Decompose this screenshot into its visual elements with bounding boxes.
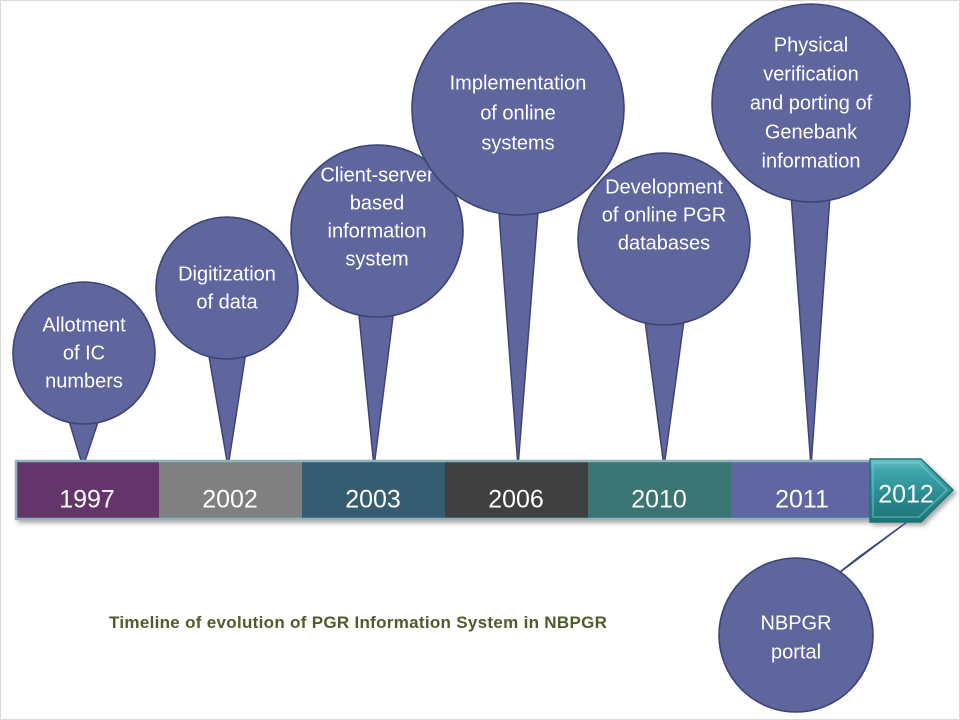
timeline-segment-2011-year: 2011 bbox=[775, 486, 829, 514]
callout-2011-line-3: and porting of bbox=[750, 92, 873, 114]
timeline-segment-2011[interactable]: 2011 bbox=[731, 461, 874, 519]
callout-tail-2006 bbox=[497, 187, 540, 467]
callout-1997[interactable]: Allotment of IC numbers bbox=[13, 282, 155, 424]
timeline-segment-1997[interactable]: 1997 bbox=[16, 461, 159, 519]
callout-2006[interactable]: Implementation of online systems bbox=[412, 3, 624, 215]
callout-2003-line-2: based bbox=[350, 192, 405, 214]
timeline-segment-2002-year: 2002 bbox=[202, 486, 258, 514]
callout-2012[interactable]: NBPGR portal bbox=[719, 558, 873, 712]
callout-2003-line-1: Client-server bbox=[320, 164, 434, 186]
callout-tail-2010 bbox=[644, 313, 685, 467]
timeline-segment-2003[interactable]: 2003 bbox=[302, 461, 445, 519]
timeline-segment-2006-year: 2006 bbox=[488, 486, 544, 514]
callout-2006-line-1: Implementation bbox=[450, 72, 587, 94]
callout-2002-line-2: of data bbox=[196, 291, 258, 313]
timeline-segment-1997-year: 1997 bbox=[59, 486, 115, 514]
callout-1997-line-2: of IC bbox=[63, 342, 105, 364]
timeline-segment-2003-year: 2003 bbox=[345, 486, 401, 514]
callout-2003-line-3: information bbox=[328, 220, 427, 242]
timeline-segment-2012[interactable]: 2012 bbox=[870, 459, 953, 522]
timeline-segment-2006[interactable]: 2006 bbox=[445, 461, 588, 519]
callout-2006-line-3: systems bbox=[481, 132, 554, 154]
callout-2002[interactable]: Digitization of data bbox=[156, 217, 298, 359]
callout-2002-bubble[interactable] bbox=[156, 217, 298, 359]
timeline-segment-2010-year: 2010 bbox=[631, 486, 687, 514]
callout-2011[interactable]: Physical verification and porting of Gen… bbox=[712, 4, 910, 202]
callout-1997-line-3: numbers bbox=[45, 370, 123, 392]
callout-2011-line-2: verification bbox=[763, 63, 859, 85]
callout-2010-line-1: Development bbox=[605, 176, 723, 198]
callout-2011-line-1: Physical bbox=[774, 34, 848, 56]
timeline-segment-2002[interactable]: 2002 bbox=[159, 461, 302, 519]
callout-2012-line-1: NBPGR bbox=[760, 612, 831, 634]
callout-2003-line-4: system bbox=[345, 248, 408, 270]
timeline-bar: 1997 2002 2003 2006 2010 bbox=[16, 459, 953, 522]
callout-2010-line-3: databases bbox=[618, 232, 710, 254]
callout-tail-2011 bbox=[790, 181, 831, 467]
callout-2012-line-2: portal bbox=[771, 641, 821, 663]
callout-2012-bubble[interactable] bbox=[719, 558, 873, 712]
callout-2010[interactable]: Development of online PGR databases bbox=[578, 153, 750, 325]
callout-2011-line-4: Genebank bbox=[765, 121, 858, 143]
timeline-segment-2012-year: 2012 bbox=[878, 481, 934, 509]
callout-1997-line-1: Allotment bbox=[42, 314, 126, 336]
callout-2002-line-1: Digitization bbox=[178, 263, 276, 285]
callout-2006-line-2: of online bbox=[480, 102, 556, 124]
callout-2010-line-2: of online PGR bbox=[602, 204, 727, 226]
timeline-segment-2010[interactable]: 2010 bbox=[588, 461, 731, 519]
timeline-diagram-canvas: Allotment of IC numbers Digitization of … bbox=[0, 0, 960, 720]
callout-tail-2012 bbox=[831, 522, 907, 579]
figure-caption: Timeline of evolution of PGR Information… bbox=[109, 613, 607, 633]
callout-2011-line-5: information bbox=[762, 150, 861, 172]
